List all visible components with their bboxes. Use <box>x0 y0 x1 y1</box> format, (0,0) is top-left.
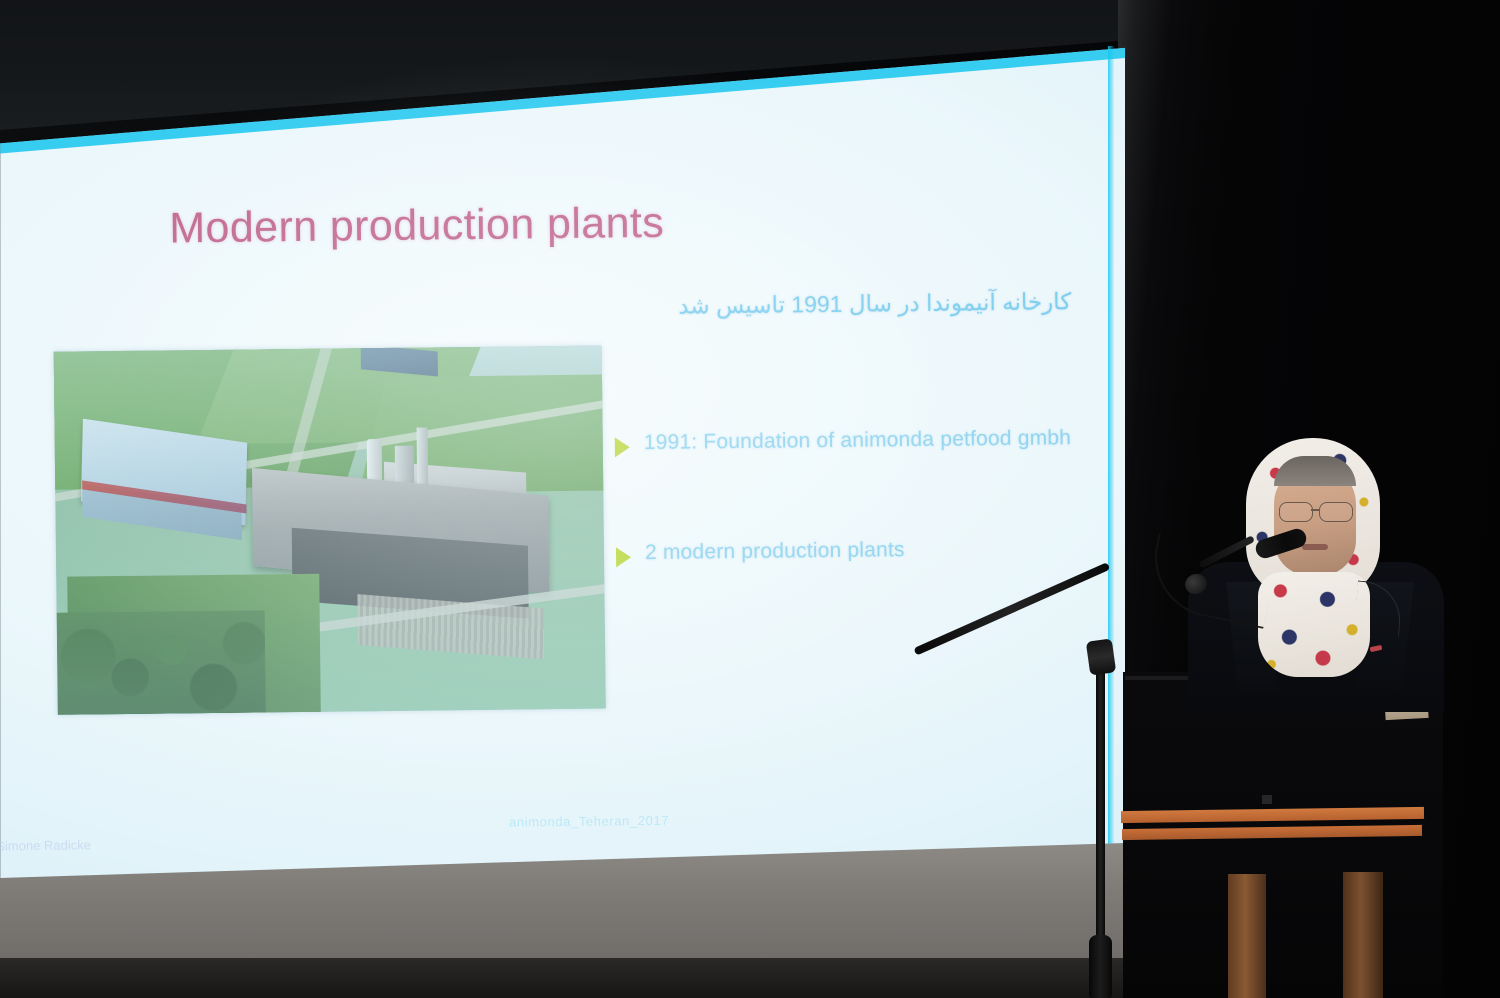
speaker-scarf-drape <box>1258 572 1370 677</box>
podium-latch <box>1262 795 1272 804</box>
triangle-bullet-icon <box>615 437 630 457</box>
podium-leg-left <box>1228 874 1266 998</box>
floor <box>0 958 1125 998</box>
slide-bullet-1: 1991: Foundation of animonda petfood gmb… <box>615 426 1072 457</box>
microphone-boom-clutch <box>1086 638 1116 675</box>
speaker-mouth <box>1302 544 1328 550</box>
aerial-factory-photo <box>54 346 606 715</box>
glasses-lens-right-icon <box>1319 502 1353 522</box>
slide-footer-left: Simone Radicke <box>0 837 91 853</box>
slide-title: Modern production plants <box>169 199 664 254</box>
microphone-stand-base <box>1089 935 1112 998</box>
podium-leg-right <box>1343 872 1383 998</box>
slide-bullet-2: 2 modern production plants <box>616 538 905 567</box>
triangle-bullet-icon <box>616 547 631 567</box>
slide-bullet-1-label: 1991: Foundation of animonda petfood gmb… <box>644 426 1072 455</box>
slide-bullet-2-label: 2 modern production plants <box>645 538 905 565</box>
slide-footer-center: animonda_Teheran_2017 <box>509 813 669 830</box>
glasses-lens-left-icon <box>1279 502 1313 522</box>
slide: Modern production plants کارخانه آنیم <box>0 36 1130 894</box>
presentation-scene: Modern production plants کارخانه آنیم <box>0 0 1500 998</box>
glasses-bridge <box>1311 509 1319 511</box>
farsi-caption: کارخانه آنیموندا در سال 1991 تاسیس شد <box>678 288 1071 319</box>
photo-projection-haze <box>54 346 606 715</box>
